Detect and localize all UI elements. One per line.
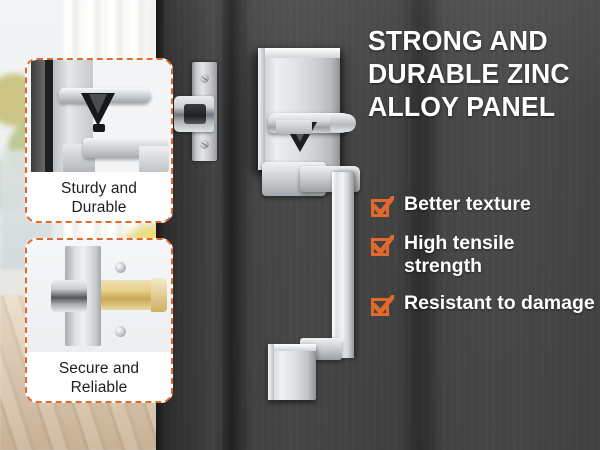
feature-bullet-label: High tensile strength (404, 232, 596, 278)
card-door-groove (45, 60, 53, 172)
grip-bar-highlight (332, 172, 337, 358)
latch-screw-bottom (200, 140, 209, 149)
card-latch-screw-bottom (115, 326, 126, 337)
headline-line-2: DURABLE ZINC (368, 57, 579, 90)
card-latch-bolt (51, 280, 87, 312)
card-grip-end (139, 146, 169, 172)
headline-line-3: ALLOY PANEL (368, 90, 579, 123)
feature-card-secure: Secure and Reliable (25, 238, 173, 403)
feature-bullet: Resistant to damage (371, 292, 596, 317)
lever-neck (276, 120, 312, 134)
caption-line-2: Reliable (27, 378, 171, 397)
feature-card-photo-lever (27, 60, 171, 172)
handle-grip-bar (332, 172, 354, 358)
feature-bullet: High tensile strength (371, 232, 596, 278)
card-latch-body (97, 280, 159, 310)
backplate-left-edge (258, 48, 265, 170)
lever-tip (330, 114, 356, 132)
check-mark-icon (372, 235, 394, 257)
caption-line-1: Sturdy and (27, 179, 171, 198)
checkbox-checked-icon (371, 196, 393, 218)
feature-card-caption: Secure and Reliable (27, 359, 171, 397)
foot-plate-top-bevel (268, 344, 316, 351)
card-lever-inner-wedge (89, 94, 107, 114)
card-latch-screw-top (115, 262, 126, 273)
caption-line-1: Secure and (27, 359, 171, 378)
feature-bullet-list: Better texture High tensile strength Res… (371, 193, 596, 331)
feature-bullet-label: Resistant to damage (404, 292, 595, 315)
feature-card-photo-latch (27, 240, 171, 352)
caption-line-2: Durable (27, 198, 171, 217)
latch-bolt-shadow (184, 104, 206, 124)
feature-bullet-label: Better texture (404, 193, 531, 216)
backplate-top-bevel (258, 48, 340, 58)
card-door-edge (31, 60, 45, 172)
headline-line-1: STRONG AND (368, 24, 579, 57)
product-marketing-image: Sturdy and Durable Secure and Reliable S… (0, 0, 600, 450)
card-latch-tail (151, 278, 167, 312)
card-lever-nub (93, 124, 105, 132)
feature-bullet: Better texture (371, 193, 596, 218)
checkbox-checked-icon (371, 295, 393, 317)
check-mark-icon (372, 196, 394, 218)
handle-foot-plate (268, 344, 316, 400)
latch-screw-top (200, 74, 209, 83)
checkbox-checked-icon (371, 235, 393, 257)
check-mark-icon (372, 295, 394, 317)
feature-card-sturdy: Sturdy and Durable (25, 58, 173, 223)
headline: STRONG AND DURABLE ZINC ALLOY PANEL (368, 24, 579, 123)
latch-bolt (174, 96, 214, 132)
feature-card-caption: Sturdy and Durable (27, 179, 171, 217)
foot-plate-left-edge (268, 344, 274, 400)
